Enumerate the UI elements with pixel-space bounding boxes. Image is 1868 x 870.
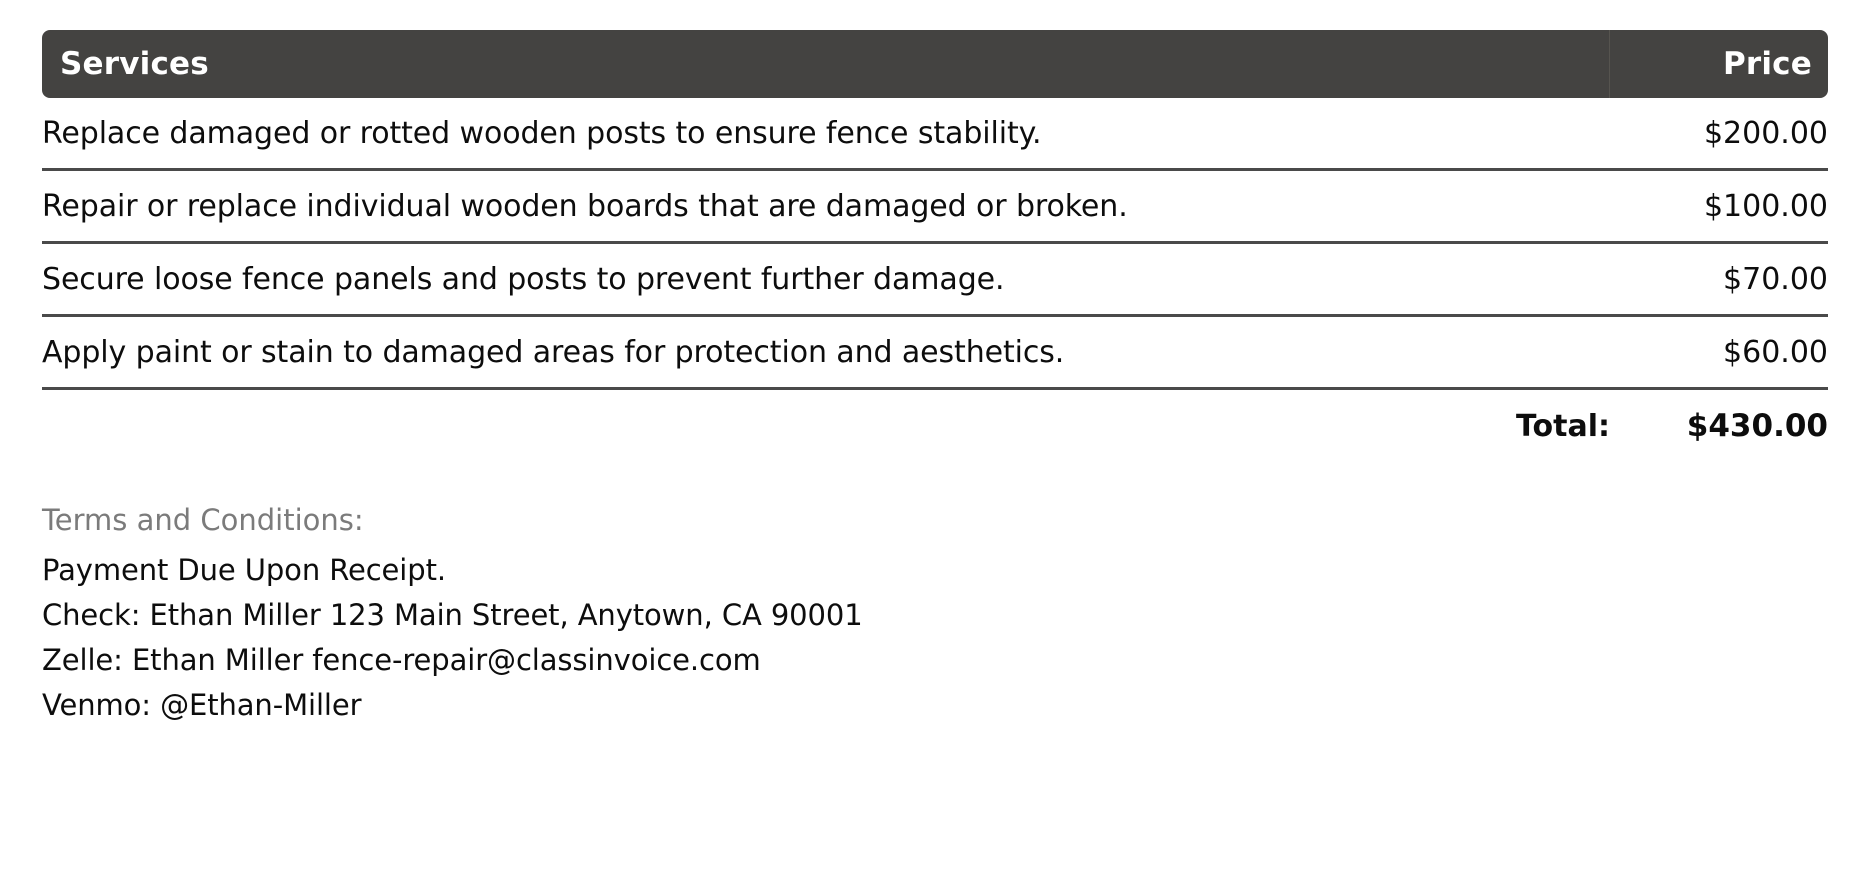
- total-amount: $430.00: [1610, 390, 1828, 462]
- terms-and-conditions-section: Terms and Conditions: Payment Due Upon R…: [42, 502, 1828, 728]
- terms-line-check: Check: Ethan Miller 123 Main Street, Any…: [42, 593, 1828, 638]
- terms-heading: Terms and Conditions:: [42, 502, 1828, 538]
- service-price: $200.00: [1610, 98, 1828, 171]
- service-price: $100.00: [1610, 171, 1828, 244]
- column-header-price: Price: [1610, 30, 1828, 98]
- total-label: Total:: [42, 390, 1610, 462]
- terms-line-venmo: Venmo: @Ethan-Miller: [42, 683, 1828, 728]
- terms-line-zelle: Zelle: Ethan Miller fence-repair@classin…: [42, 638, 1828, 683]
- service-description: Apply paint or stain to damaged areas fo…: [42, 317, 1610, 390]
- service-price: $60.00: [1610, 317, 1828, 390]
- column-header-services: Services: [42, 30, 1610, 98]
- table-row: Apply paint or stain to damaged areas fo…: [42, 317, 1828, 390]
- terms-line-payment-due: Payment Due Upon Receipt.: [42, 548, 1828, 593]
- column-header-services-label: Services: [60, 49, 209, 80]
- column-header-price-label: Price: [1723, 49, 1812, 80]
- services-price-table: Services Price Replace damaged or rotted…: [42, 30, 1828, 462]
- table-total-row: Total: $430.00: [42, 390, 1828, 462]
- invoice-services-section: Services Price Replace damaged or rotted…: [0, 0, 1868, 870]
- service-description: Secure loose fence panels and posts to p…: [42, 244, 1610, 317]
- table-row: Replace damaged or rotted wooden posts t…: [42, 98, 1828, 171]
- service-price: $70.00: [1610, 244, 1828, 317]
- table-row: Secure loose fence panels and posts to p…: [42, 244, 1828, 317]
- table-head: Services Price: [42, 30, 1828, 98]
- service-description: Repair or replace individual wooden boar…: [42, 171, 1610, 244]
- service-description: Replace damaged or rotted wooden posts t…: [42, 98, 1610, 171]
- table-header-row: Services Price: [42, 30, 1828, 98]
- table-body: Replace damaged or rotted wooden posts t…: [42, 98, 1828, 462]
- table-row: Repair or replace individual wooden boar…: [42, 171, 1828, 244]
